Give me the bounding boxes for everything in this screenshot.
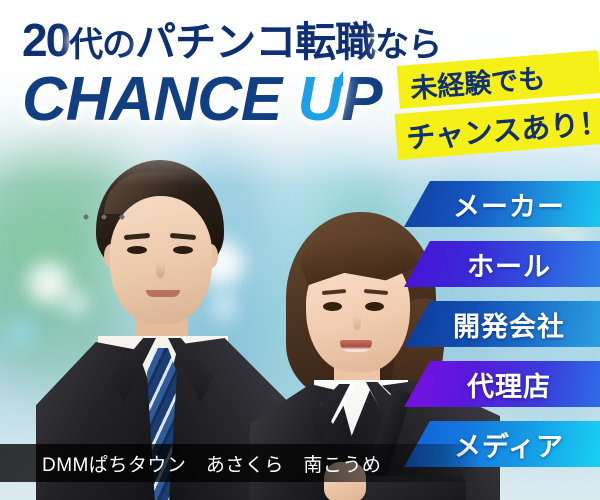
woman-eye-left [323,302,342,311]
headline-chance-text: CHANCE [22,65,297,134]
headline-line1-main: パチンコ転職 [135,19,375,65]
headline-u-wrapper: U [297,69,341,131]
man-mouth [146,290,180,297]
bokeh-light [6,318,36,348]
man-eye-right [173,246,193,254]
headline-block: 20代のパチンコ転職なら CHANCE UP [22,16,441,131]
briefcase-studs [80,212,128,222]
category-label: 開発会社 [404,305,600,344]
woman-nose [353,316,361,330]
man-eye-left [127,246,147,254]
caption-bar: DMMぱちタウン あさくら 南こうめ [0,444,480,482]
category-button-maker[interactable]: メーカー [404,181,600,227]
badge-line-1-label: 未経験でも [409,56,547,105]
category-label: 代理店 [404,365,600,404]
advertisement-banner[interactable]: 20代のパチンコ転職なら CHANCE UP 未経験でも チャンスあり！ メーカ… [0,0,600,500]
category-button-hall[interactable]: ホール [404,241,600,287]
woman-smiling-mouth [340,340,372,352]
headline-line-1: 20代のパチンコ転職なら [22,16,441,65]
headline-line-2: CHANCE UP [22,69,441,131]
up-arrow-icon [332,71,343,86]
category-label: ホール [404,245,600,284]
category-button-agency[interactable]: 代理店 [404,361,600,407]
headline-number: 20 [22,14,69,66]
headline-line1-suffix: なら [375,26,441,64]
caption-text: DMMぱちタウン あさくら 南こうめ [0,450,381,477]
headline-p-letter: P [341,65,381,134]
headline-line1-mid: 代の [69,26,135,64]
category-button-development-company[interactable]: 開発会社 [404,301,600,347]
man-nose [156,262,165,278]
woman-eye-right [365,302,384,311]
category-label: メーカー [404,185,600,224]
